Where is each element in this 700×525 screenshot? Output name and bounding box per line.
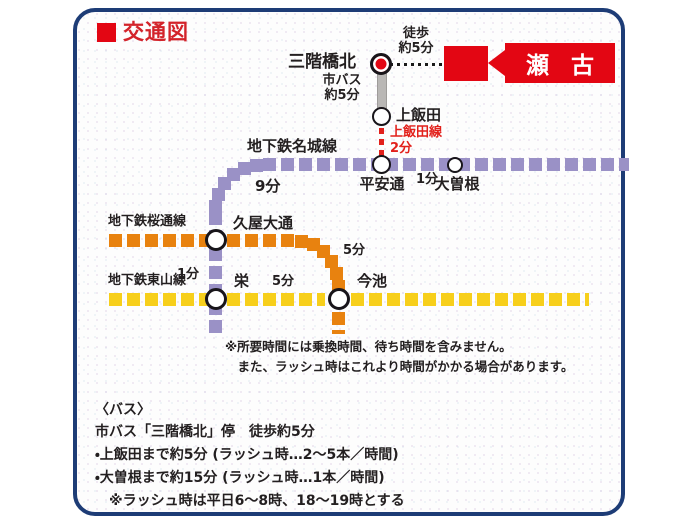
line-label-higashiyama: 地下鉄東山線 <box>108 274 186 289</box>
bus-info-line-3: ・大曽根まで約15分 (ラッシュ時…1本／時間) <box>95 467 385 489</box>
duration-kamiiida-line: 2分 <box>390 142 412 157</box>
station-marker-sankaibashi-kita <box>370 53 392 75</box>
station-label-hisaya-odori: 久屋大通 <box>233 215 293 232</box>
line-label-sakuradori: 地下鉄桜通線 <box>108 215 186 230</box>
destination-marker-square <box>444 46 488 81</box>
bus-info-line-1: 市バス「三階橋北」停 徒歩約5分 <box>95 421 315 443</box>
line-label-meijo: 地下鉄名城線 <box>247 138 337 155</box>
destination-label-box: 瀬 古 <box>505 43 615 83</box>
walk-dotted-connector <box>383 63 445 66</box>
destination-arrow-icon <box>488 50 505 76</box>
station-marker-hisaya-odori <box>205 229 227 251</box>
meijo-curve-bead <box>250 159 263 172</box>
sakuradori-line-below-imaike <box>332 312 345 334</box>
sakuradori-line-mid-segment <box>227 234 295 247</box>
meijo-line-right-segment <box>385 158 629 171</box>
higashiyama-line-left-segment <box>109 293 209 306</box>
duration-city-bus: 市バス 約5分 <box>322 74 361 104</box>
sakuradori-curve-bead <box>330 267 343 280</box>
bus-info-line-2: ・上飯田まで約5分 (ラッシュ時…2〜5本／時間) <box>95 444 399 466</box>
station-label-kamiiida: 上飯田 <box>396 107 441 124</box>
bus-info-line-4: ※ラッシュ時は平日6〜8時、18〜19時とする <box>95 490 405 512</box>
red-square-bullet-icon <box>97 23 116 42</box>
sakuradori-line-left-segment <box>109 234 217 247</box>
station-label-sakae: 栄 <box>234 273 249 290</box>
station-label-imaike: 今池 <box>357 273 387 290</box>
bus-connector-line <box>377 73 387 110</box>
meijo-line-top-segment <box>263 158 381 171</box>
duration-sakae-to-imaike: 5分 <box>272 275 294 290</box>
station-marker-kamiiida <box>372 107 391 126</box>
station-marker-heiandori <box>372 155 391 174</box>
station-label-heiandori: 平安通 <box>359 176 404 193</box>
duration-meijo-curve: 9分 <box>255 178 280 195</box>
higashiyama-line-mid-segment <box>227 293 325 306</box>
page-title: 交通図 <box>97 22 189 43</box>
note-line-1: ※所要時間には乗換時間、待ち時間を含みません。 <box>225 337 512 356</box>
station-marker-imaike <box>328 288 350 310</box>
bus-info-heading: 〈バス〉 <box>95 399 151 421</box>
diagram-stage: 交通図 瀬 古 徒歩 約5分 三階橋北 市バス 約5分 上飯田 上飯田線 2分 <box>77 12 629 520</box>
duration-walk-to-seko: 徒歩 約5分 <box>398 27 433 57</box>
line-label-kamiiida: 上飯田線 <box>390 126 442 141</box>
station-marker-sakae <box>205 288 227 310</box>
duration-hisaya-to-imaike: 5分 <box>343 244 365 259</box>
higashiyama-line-right-segment <box>351 293 589 306</box>
diagram-root: 交通図 瀬 古 徒歩 約5分 三階橋北 市バス 約5分 上飯田 上飯田線 2分 <box>0 0 700 525</box>
station-label-sankaibashi-kita: 三階橋北 <box>288 53 356 73</box>
title-text: 交通図 <box>123 22 189 43</box>
note-line-2: また、ラッシュ時はこれより時間がかかる場合があります。 <box>225 357 574 376</box>
station-label-ozone: 大曽根 <box>434 176 479 193</box>
transit-map-panel: 交通図 瀬 古 徒歩 約5分 三階橋北 市バス 約5分 上飯田 上飯田線 2分 <box>73 8 625 516</box>
station-marker-ozone <box>447 157 463 173</box>
